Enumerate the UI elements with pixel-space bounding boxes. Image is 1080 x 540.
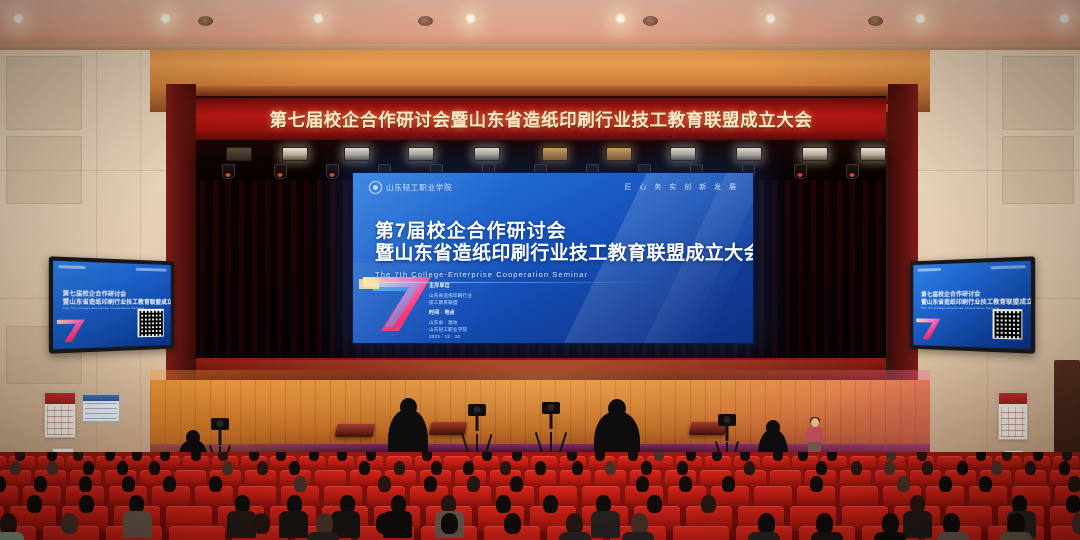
info-heading-time-place: 时间 · 地点: [429, 310, 472, 318]
info-screen-header: [83, 395, 119, 401]
audience-member-head: [34, 476, 47, 492]
audience-member-coat: [0, 532, 24, 540]
audience-member-coat: [279, 511, 308, 538]
floor-plank: [240, 380, 241, 452]
audience-member-head: [422, 452, 432, 461]
audience-member-head: [132, 452, 142, 461]
camera-operator-head: [608, 399, 626, 418]
screen-college-logo: 山东轻工职业学院: [369, 181, 452, 194]
audience-member-head: [218, 452, 228, 461]
wall-poster: [998, 392, 1028, 440]
audience-member-head: [1068, 476, 1080, 492]
floor-plank: [840, 380, 841, 452]
audience-member-head: [504, 513, 521, 534]
audience-member-head: [712, 452, 722, 461]
ceiling-downlight: [312, 12, 325, 25]
audience-member-head: [27, 495, 42, 513]
audience-member-head: [366, 452, 376, 461]
ceiling-downlight: [1058, 12, 1071, 25]
audience-member-head: [1002, 452, 1012, 461]
audience-member-head: [0, 513, 17, 534]
ceiling-fixture: [643, 16, 658, 26]
conference-hall-photo: 第七届校企合作研讨会暨山东省造纸印刷行业技工教育联盟成立大会 山东轻工职业学院 …: [0, 0, 1080, 540]
audience-member-head: [376, 513, 393, 534]
camera-lens-icon: [474, 406, 481, 413]
floor-plank: [660, 380, 661, 452]
floor-plank: [885, 380, 886, 452]
par-can-light: [736, 147, 762, 161]
tripod-column: [219, 429, 222, 445]
audience-member-head: [276, 452, 286, 461]
audience-member-head: [701, 495, 716, 513]
audience-member-head: [83, 461, 94, 475]
main-led-screen: 山东轻工职业学院 匠 心 务 实 创 新 发 展: [352, 172, 754, 344]
audience-member-head: [394, 461, 405, 475]
floor-plank: [270, 380, 271, 452]
audience-member-head: [431, 461, 442, 475]
audience-member-head: [1033, 452, 1043, 461]
ceiling-downlight: [464, 12, 477, 25]
floor-plank: [330, 380, 331, 452]
audience-member-head: [897, 476, 910, 492]
audience-member-head: [309, 452, 319, 461]
floor-plank: [705, 380, 706, 452]
audience-member-coat: [622, 532, 654, 540]
audience-member-head: [47, 452, 57, 461]
camera-lens-icon: [724, 416, 731, 423]
audience-member-head: [1008, 513, 1025, 534]
audience-member-head: [595, 452, 605, 461]
floor-plank: [510, 380, 511, 452]
floor-plank: [915, 380, 916, 452]
audience-member-coat: [227, 511, 256, 538]
college-emblem-icon: [369, 181, 382, 194]
audience-member-head: [316, 513, 333, 534]
screen-title-line1: 第7届校企合作研讨会: [375, 221, 705, 243]
ceiling-downlight: [12, 12, 25, 25]
audience-member-head: [572, 461, 583, 475]
audience-member-head: [851, 461, 862, 475]
qr-pattern: [139, 310, 162, 336]
floor-plank: [150, 380, 151, 452]
audience-member-head: [294, 476, 307, 492]
audience-member-head: [654, 452, 664, 461]
host-head: [811, 418, 819, 427]
audience-member-head: [636, 476, 649, 492]
audience-member-head: [1059, 461, 1070, 475]
ceiling-fixture: [198, 16, 213, 26]
floor-plank: [645, 380, 646, 452]
host-person: [806, 418, 823, 454]
audience-member-head: [827, 452, 837, 461]
crew-head: [186, 430, 200, 445]
audience-member-head: [758, 513, 775, 534]
floor-plank: [360, 380, 361, 452]
monitor-qr-code: [138, 309, 164, 338]
monitor-logo: [58, 265, 85, 269]
monitor-subtitle-en: The 7th College-Enterprise Cooperation S…: [63, 306, 145, 310]
audience-member-coat: [1000, 532, 1032, 540]
audience-member-head: [249, 452, 259, 461]
monitor-title-line2: 暨山东省造纸印刷行业技工教育联盟成立大会: [921, 296, 1031, 306]
par-can-light: [226, 147, 252, 161]
audience-member-head: [816, 461, 827, 475]
screen-info-block: 主办单位 山东省造纸印刷行业 技工教育联盟 时间 · 地点 山东省 · 潍坊 山…: [429, 283, 472, 340]
audience-member-head: [884, 461, 895, 475]
monitor-slogan: [991, 265, 1026, 269]
audience-member-head: [79, 476, 92, 492]
audience-member-head: [647, 495, 662, 513]
audience-member-head: [510, 476, 523, 492]
screen-title-block: 第7届校企合作研讨会 暨山东省造纸印刷行业技工教育联盟成立大会 The 7th …: [375, 221, 705, 283]
monitor-qr-code: [993, 309, 1023, 339]
info-screen-body: [85, 402, 117, 419]
wall-panel: [1002, 56, 1074, 130]
info-place-line2: 山东轻工职业学院: [429, 326, 472, 333]
audience-member-head: [566, 513, 583, 534]
moving-head-light: [274, 164, 287, 179]
floor-plank: [255, 380, 256, 452]
auditorium-seat: [754, 486, 792, 507]
audience-member-head: [222, 461, 233, 475]
floor-plank: [585, 380, 586, 452]
auditorium-seat: [169, 526, 225, 540]
par-can-light: [344, 147, 370, 161]
auditorium-seat: [770, 470, 801, 487]
poster-content: [47, 406, 73, 435]
info-organizer-line2: 技工教育联盟: [429, 299, 472, 306]
poster-header: [999, 393, 1027, 404]
audience-member-head: [922, 461, 933, 475]
auditorium-seat: [840, 486, 878, 507]
audience-member-head: [979, 476, 992, 492]
audience-member-head: [882, 513, 899, 534]
auditorium-seat: [0, 456, 6, 470]
poster-header: [45, 393, 75, 404]
floor-plank: [315, 380, 316, 452]
audience-member-head: [679, 476, 692, 492]
audience-member-head: [798, 452, 808, 461]
audience-member-head: [722, 476, 735, 492]
stage-banner: 第七届校企合作研讨会暨山东省造纸印刷行业技工教育联盟成立大会: [196, 96, 886, 142]
audience-member-head: [686, 452, 696, 461]
ceiling-downlight: [764, 12, 777, 25]
audience-member-head: [359, 461, 370, 475]
audience-member-head: [482, 452, 492, 461]
audience-member-head: [500, 461, 511, 475]
tripod-column: [550, 413, 553, 429]
moving-head-light: [222, 164, 235, 179]
audience-member-head: [1072, 513, 1080, 534]
audience-member-head: [463, 461, 474, 475]
audience-member-head: [253, 513, 270, 534]
audience-member-head: [337, 452, 347, 461]
audience-member-head: [886, 452, 896, 461]
ceiling-downlight: [614, 12, 627, 25]
monitor-subtitle-en: The 7th College-Enterprise Cooperation S…: [921, 306, 1000, 310]
audience-member-head: [441, 513, 458, 534]
tripod-column: [476, 415, 479, 431]
par-can-light: [802, 147, 828, 161]
par-can-light: [408, 147, 434, 161]
auditorium-seat: [315, 470, 346, 487]
audience-member-head: [957, 461, 968, 475]
floor-plank: [870, 380, 871, 452]
floor-plank: [525, 380, 526, 452]
ceiling-downlight: [159, 12, 172, 25]
floor-plank: [180, 380, 181, 452]
audience-area: [0, 452, 1080, 540]
audience-member-head: [424, 476, 437, 492]
audience-member-coat: [874, 532, 906, 540]
screen-slogan: 匠 心 务 实 创 新 发 展: [624, 182, 739, 192]
side-monitor-right: 第七届校企合作研讨会 暨山东省造纸印刷行业技工教育联盟成立大会 The 7th …: [910, 256, 1035, 353]
info-organizer-line1: 山东省造纸印刷行业: [429, 292, 472, 299]
audience-member-head: [163, 476, 176, 492]
floor-plank: [285, 380, 286, 452]
floor-plank: [450, 380, 451, 452]
audience-member-coat: [937, 532, 969, 540]
audience-member-coat: [748, 532, 780, 540]
audience-member-coat: [123, 511, 152, 538]
audience-member-head: [10, 461, 21, 475]
par-can-light: [474, 147, 500, 161]
audience-member-head: [378, 476, 391, 492]
audience-member-head: [939, 476, 952, 492]
audience-member-head: [816, 513, 833, 534]
moving-head-light: [794, 164, 807, 179]
banner-text: 第七届校企合作研讨会暨山东省造纸印刷行业技工教育联盟成立大会: [270, 107, 813, 132]
monitor-slogan: [136, 268, 167, 272]
par-can-light: [860, 147, 886, 161]
audience-member-head: [467, 476, 480, 492]
audience-member-coat: [559, 532, 591, 540]
qr-pattern: [994, 311, 1021, 338]
audience-member-head: [740, 452, 750, 461]
audience-member-head: [991, 461, 1002, 475]
par-can-light: [606, 147, 632, 161]
floor-plank: [825, 380, 826, 452]
ceiling-downlight: [914, 12, 927, 25]
audience-member-head: [976, 452, 986, 461]
floor-plank: [345, 380, 346, 452]
moving-head-light: [846, 164, 859, 179]
audience-member-head: [605, 461, 616, 475]
monitor-screen: 第七届校企合作研讨会 暨山东省造纸印刷行业技工教育联盟成立大会 The 7th …: [913, 261, 1031, 350]
audience-member-head: [160, 452, 170, 461]
auditorium-seat: [175, 470, 206, 487]
audience-member-head: [289, 461, 300, 475]
wall-panel: [6, 56, 82, 130]
audience-member-head: [512, 452, 522, 461]
audience-member-head: [496, 495, 511, 513]
floor-plank: [495, 380, 496, 452]
audience-member-head: [122, 476, 135, 492]
audience-member-head: [1062, 452, 1072, 461]
audience-member-coat: [903, 511, 932, 538]
par-can-light: [542, 147, 568, 161]
wall-seam: [0, 170, 182, 171]
audience-member-head: [149, 461, 160, 475]
audience-member-head: [1025, 461, 1036, 475]
audience-member-head: [191, 452, 201, 461]
info-date: 2023 · 12 · 20: [429, 333, 472, 340]
auditorium-seat: [673, 526, 729, 540]
par-can-light: [670, 147, 696, 161]
audience-member-head: [535, 461, 546, 475]
wall-seam: [904, 170, 1080, 171]
floor-plank: [690, 380, 691, 452]
side-monitor-left: 第七届校企合作研讨会 暨山东省造纸印刷行业技工教育联盟成立大会 The 7th …: [49, 256, 174, 353]
audience-member-head: [61, 513, 78, 534]
monitor-screen: 第七届校企合作研讨会 暨山东省造纸印刷行业技工教育联盟成立大会 The 7th …: [53, 261, 171, 350]
wall-poster: [44, 392, 76, 438]
audience-member-head: [677, 461, 688, 475]
audience-member-head: [773, 452, 783, 461]
audience-member-head: [105, 452, 115, 461]
audience-member-head: [810, 476, 823, 492]
camera-lens-icon: [548, 404, 555, 411]
audience-member-head: [47, 461, 58, 475]
wall-info-screen: [82, 394, 120, 422]
floor-plank: [165, 380, 166, 452]
audience-member-head: [543, 495, 558, 513]
info-place-line1: 山东省 · 潍坊: [429, 319, 472, 326]
audience-member-head: [257, 461, 268, 475]
floor-plank: [900, 380, 901, 452]
crew-head: [766, 420, 780, 435]
floor-plank: [375, 380, 376, 452]
floor-plank: [795, 380, 796, 452]
audience-member-coat: [307, 532, 339, 540]
audience-member-head: [744, 461, 755, 475]
ceiling-fixture: [868, 16, 883, 26]
monitor-title-line2: 暨山东省造纸印刷行业技工教育联盟成立大会: [63, 297, 171, 306]
audience-member-head: [628, 452, 638, 461]
college-logo-text: 山东轻工职业学院: [386, 182, 452, 193]
audience-member-head: [15, 452, 25, 461]
audience-member-head: [1066, 495, 1080, 513]
audience-member-head: [631, 513, 648, 534]
camera-operator-head: [400, 398, 417, 416]
audience-member-head: [117, 461, 128, 475]
screen-title-line2: 暨山东省造纸印刷行业技工教育联盟成立大会: [375, 243, 705, 265]
info-heading-organizer: 主办单位: [429, 283, 472, 291]
floor-plank: [675, 380, 676, 452]
floor-plank: [750, 380, 751, 452]
audience-member-head: [73, 452, 83, 461]
ceiling-fixture: [418, 16, 433, 26]
audience-member-coat: [811, 532, 843, 540]
camera-lens-icon: [217, 420, 224, 427]
screen-subtitle-en: The 7th College-Enterprise Cooperation S…: [375, 270, 705, 279]
par-can-light: [282, 147, 308, 161]
monitor-numeral-seven-graphic: [915, 315, 945, 343]
audience-member-head: [567, 452, 577, 461]
tripod-column: [726, 425, 729, 441]
floor-plank: [570, 380, 571, 452]
floor-plank: [855, 380, 856, 452]
monitor-logo: [918, 268, 941, 272]
audience-member-head: [209, 476, 222, 492]
screen-title-rule: [375, 282, 660, 283]
moving-head-light: [326, 164, 339, 179]
audience-member-head: [943, 513, 960, 534]
monitor-numeral-seven-graphic: [55, 315, 90, 345]
stage-floor-monitor: [335, 424, 376, 437]
audience-member-head: [917, 452, 927, 461]
floor-plank: [300, 380, 301, 452]
audience-member-head: [79, 495, 94, 513]
audience-member-head: [641, 461, 652, 475]
floor-plank: [435, 380, 436, 452]
poster-content: [1001, 407, 1025, 437]
audience-member-coat: [591, 511, 620, 538]
